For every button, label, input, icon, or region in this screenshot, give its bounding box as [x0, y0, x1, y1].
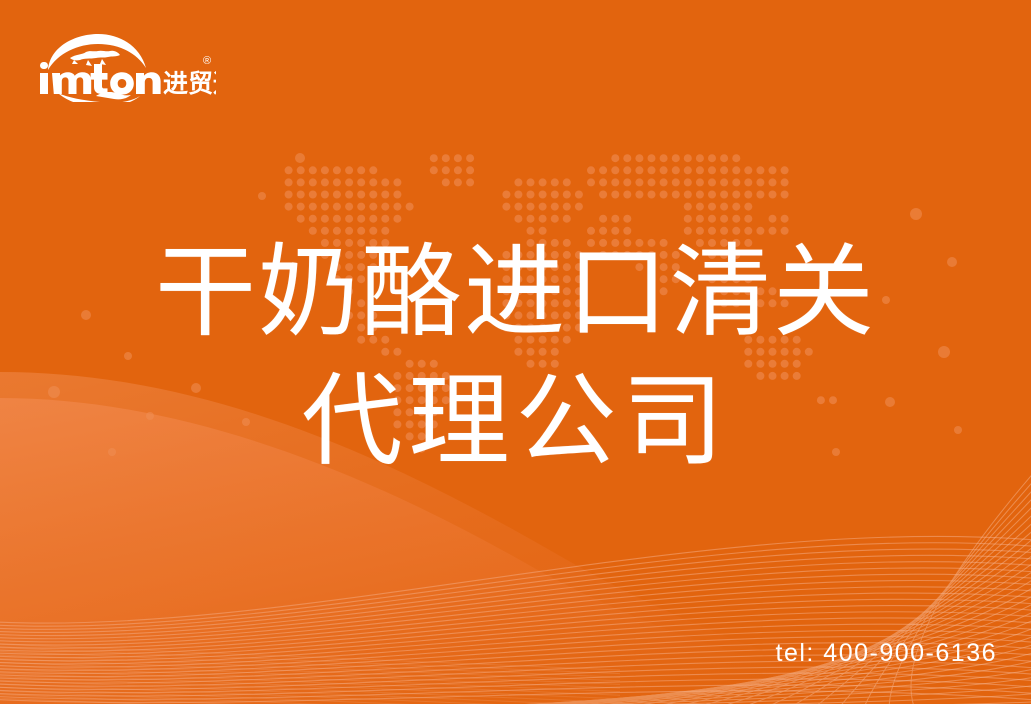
imton-logo[interactable]: 进贸通 ® [36, 30, 216, 102]
promo-banner: 进贸通 ® 干奶酪进口清关 代理公司 tel: 400-900-6136 [0, 0, 1031, 704]
headline-line-2: 代理公司 [0, 357, 1031, 486]
logo-chinese-mark: 进贸通 [163, 69, 216, 98]
page-title: 干奶酪进口清关 代理公司 [0, 228, 1031, 487]
contact-phone[interactable]: tel: 400-900-6136 [776, 639, 997, 668]
imton-wordmark [40, 62, 161, 95]
headline-line-1: 干奶酪进口清关 [0, 228, 1031, 357]
registered-symbol: ® [203, 55, 211, 67]
